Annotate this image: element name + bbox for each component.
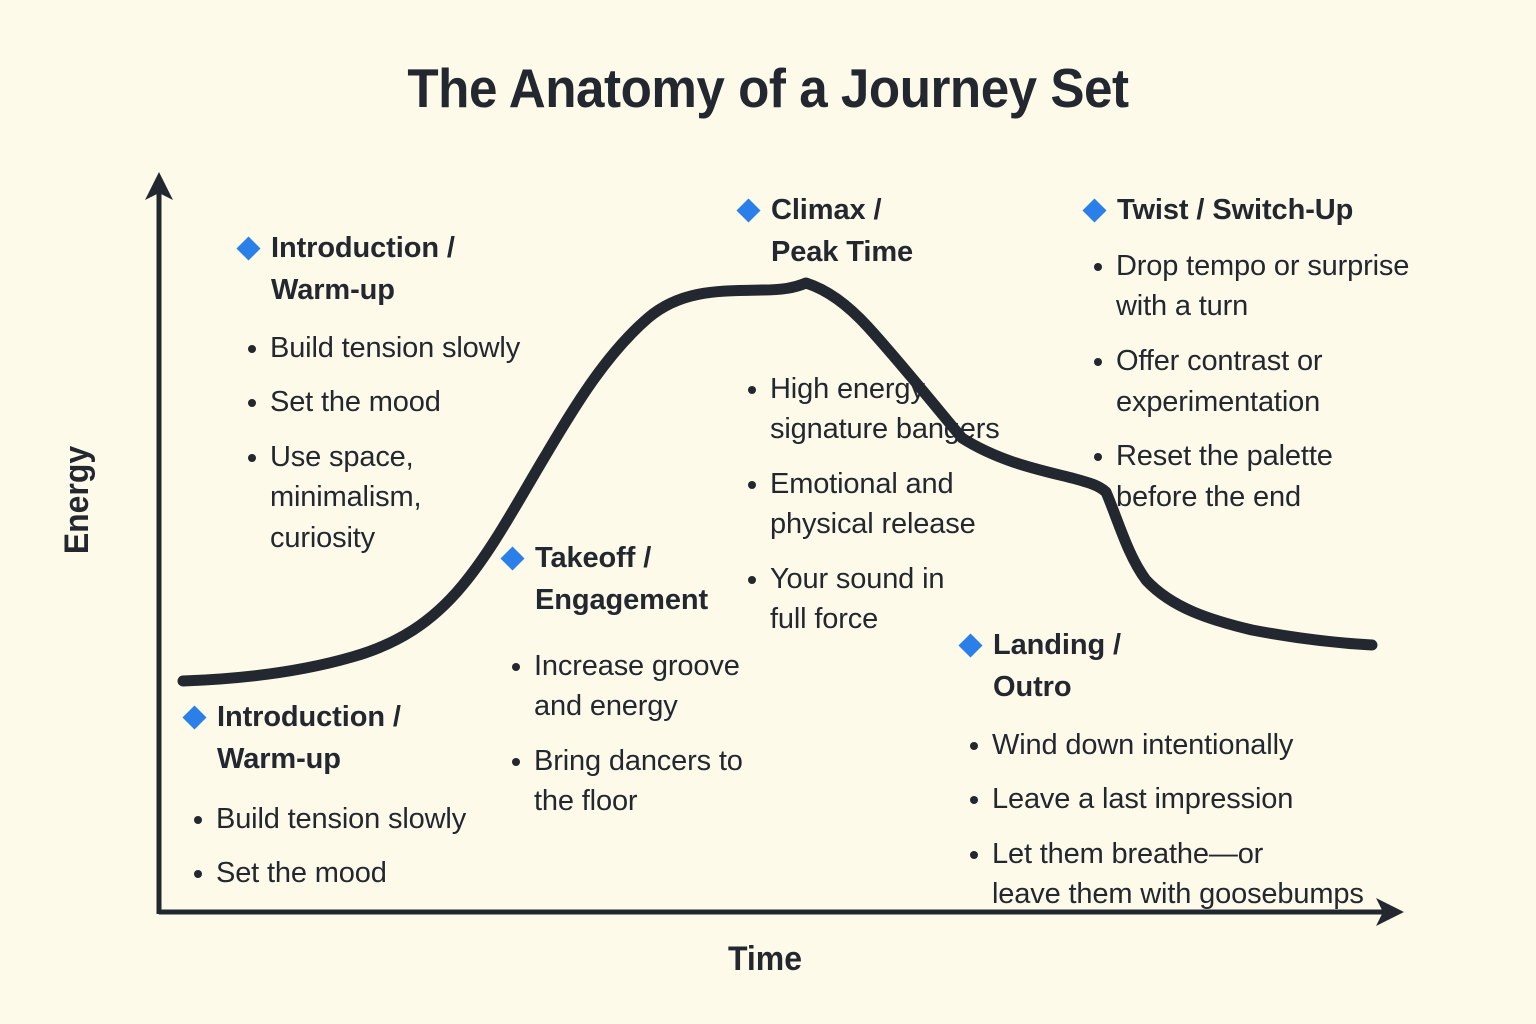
list-item: Bring dancers to the floor [504, 741, 764, 822]
annotation-bullet-list: Increase groove and energy Bring dancers… [504, 646, 764, 822]
blue-diamond-icon [500, 546, 524, 570]
infographic-canvas: The Anatomy of a Journey Set Energy Time… [0, 0, 1536, 1024]
annotation-heading: Landing / Outro [962, 625, 1412, 709]
list-item: Wind down intentionally [962, 725, 1412, 766]
list-item: Emotional and physical release [740, 464, 1030, 545]
annotation-block-takeoff: Takeoff / Engagement Increase groove and… [504, 538, 764, 822]
annotation-bullet-list: High energy, signature bangers Emotional… [740, 369, 1030, 641]
list-item: Let them breathe—or leave them with goos… [962, 834, 1412, 915]
annotation-bullet-list: Build tension slowly Set the mood [186, 799, 526, 894]
annotation-block-twist: Twist / Switch-Up Drop tempo or surprise… [1086, 190, 1456, 517]
list-item: Leave a last impression [962, 779, 1412, 820]
annotation-heading-text: Introduction / Warm-up [271, 228, 455, 312]
blue-diamond-icon [958, 633, 982, 657]
blue-diamond-icon [1082, 198, 1106, 222]
list-item: Set the mood [240, 382, 570, 423]
annotation-heading-text: Introduction / Warm-up [217, 697, 401, 781]
list-item: Offer contrast or experimentation [1086, 341, 1456, 422]
annotation-heading: Introduction / Warm-up [186, 697, 526, 781]
annotation-heading-text: Climax / Peak Time [771, 190, 913, 274]
y-axis-label: Energy [58, 406, 97, 594]
list-item: Increase groove and energy [504, 646, 764, 727]
list-item: Reset the palette before the end [1086, 436, 1456, 517]
blue-diamond-icon [236, 236, 260, 260]
annotation-block-introduction-bottom: Introduction / Warm-up Build tension slo… [186, 697, 526, 894]
annotation-block-climax: Climax / Peak Time High energy, signatur… [740, 190, 1030, 640]
blue-diamond-icon [736, 198, 760, 222]
annotation-heading: Takeoff / Engagement [504, 538, 764, 622]
list-item: High energy, signature bangers [740, 369, 1030, 450]
annotation-heading: Introduction / Warm-up [240, 228, 570, 312]
list-item: Drop tempo or surprise with a turn [1086, 246, 1456, 327]
annotation-block-landing: Landing / Outro Wind down intentionally … [962, 625, 1412, 915]
annotation-bullet-list: Build tension slowly Set the mood Use sp… [240, 328, 570, 559]
x-axis-label: Time [196, 940, 1333, 979]
list-item: Build tension slowly [240, 328, 570, 369]
list-item: Build tension slowly [186, 799, 526, 840]
annotation-heading: Climax / Peak Time [740, 190, 1030, 274]
blue-diamond-icon [182, 705, 206, 729]
annotation-block-introduction-top: Introduction / Warm-up Build tension slo… [240, 228, 570, 558]
annotation-bullet-list: Wind down intentionally Leave a last imp… [962, 725, 1412, 915]
list-item: Set the mood [186, 853, 526, 894]
annotation-heading-text: Landing / Outro [993, 625, 1121, 709]
annotation-bullet-list: Drop tempo or surprise with a turn Offer… [1086, 246, 1456, 518]
annotation-heading-text: Takeoff / Engagement [535, 538, 708, 622]
annotation-heading-text: Twist / Switch-Up [1117, 190, 1353, 232]
annotation-heading: Twist / Switch-Up [1086, 190, 1456, 232]
